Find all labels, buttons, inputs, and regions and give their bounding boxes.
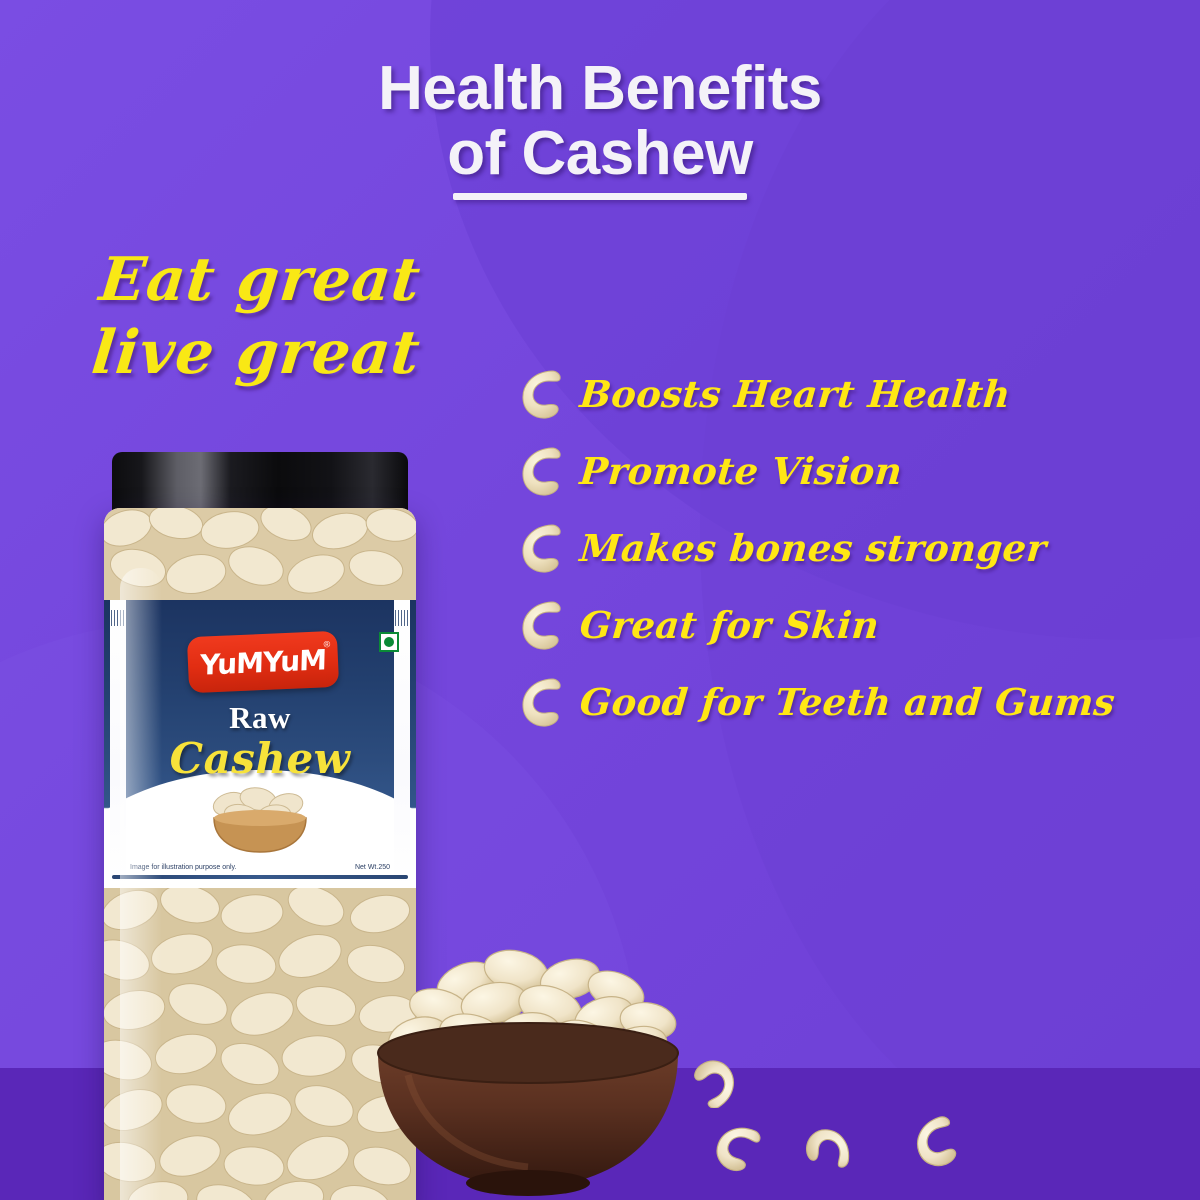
benefit-item: Promote Vision: [518, 443, 1178, 499]
tagline-line-1: Eat great: [96, 244, 432, 317]
product-variant-line-2: Cashew: [104, 734, 416, 783]
benefit-label: Good for Teeth and Gums: [578, 680, 1117, 724]
cashew-nut-icon: [518, 676, 566, 728]
benefit-item: Great for Skin: [518, 597, 1178, 653]
benefit-label: Great for Skin: [578, 603, 881, 647]
scattered-cashew-icon: [708, 1122, 766, 1172]
scattered-cashew-icon: [800, 1124, 858, 1172]
tagline: Eat great live great: [88, 244, 431, 390]
jar-cap: [112, 452, 408, 514]
benefit-item: Boosts Heart Health: [518, 366, 1178, 422]
brand-logo-badge: YuMYuM ®: [187, 631, 339, 693]
label-fine-print: Image for illustration purpose only. Net…: [104, 864, 416, 871]
jar-nuts-top: [104, 508, 416, 600]
label-edge-pattern: [395, 610, 409, 626]
tagline-line-2: live great: [88, 317, 424, 390]
headline-line-1: Health Benefits: [0, 56, 1200, 121]
product-label: YuMYuM ® Raw Cashew: [104, 600, 416, 888]
poster-canvas: Health Benefits of Cashew Eat great live…: [0, 0, 1200, 1200]
headline-line-2-wrap: of Cashew: [447, 121, 753, 186]
product-variant-line-1: Raw: [104, 700, 416, 736]
scattered-cashew-icon: [686, 1058, 746, 1108]
cashew-nut-icon: [518, 599, 566, 651]
benefit-label: Makes bones stronger: [578, 526, 1048, 570]
page-title: Health Benefits of Cashew: [0, 56, 1200, 186]
label-net-weight: Net Wt.250: [355, 864, 390, 871]
registered-trademark-icon: ®: [323, 639, 330, 649]
benefit-item: Good for Teeth and Gums: [518, 674, 1178, 730]
label-bowl-illustration: [190, 778, 330, 854]
label-edge-pattern: [111, 610, 125, 626]
benefit-item: Makes bones stronger: [518, 520, 1178, 576]
label-bottom-rule: [112, 875, 408, 879]
scattered-cashew-icon: [906, 1116, 966, 1168]
brand-name: YuMYuM: [187, 631, 338, 694]
headline-line-2: of Cashew: [447, 119, 753, 188]
headline-underline: [453, 193, 746, 200]
benefit-label: Promote Vision: [578, 449, 904, 493]
benefits-list: Boosts Heart Health Promote Vision Makes…: [518, 366, 1178, 751]
cashew-nut-icon: [518, 522, 566, 574]
label-disclaimer: Image for illustration purpose only.: [130, 864, 236, 871]
benefit-label: Boosts Heart Health: [578, 372, 1012, 416]
cashew-nut-icon: [518, 445, 566, 497]
vegetarian-mark-icon: [379, 632, 399, 652]
cashew-bowl-image: [348, 925, 708, 1200]
cashew-nut-icon: [518, 368, 566, 420]
veg-green-dot: [384, 637, 394, 647]
